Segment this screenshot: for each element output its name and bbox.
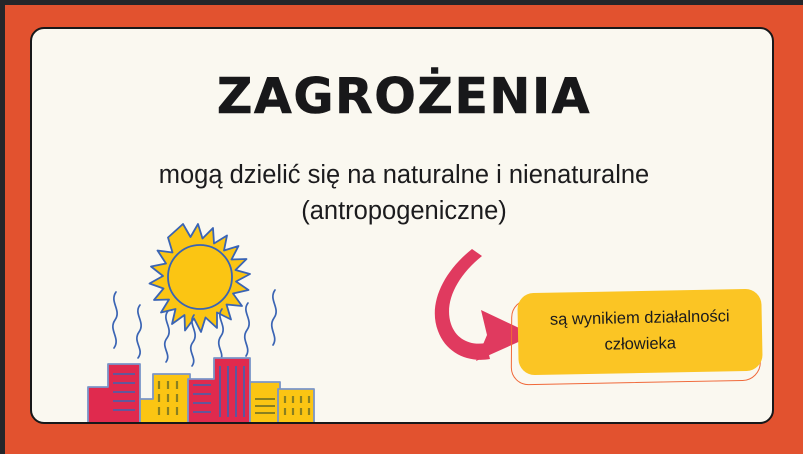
building-red-2 (188, 358, 250, 424)
callout-box[interactable]: są wynikiem działalności człowieka (517, 289, 763, 376)
building-yellow-3 (278, 389, 314, 424)
building-red-1 (88, 364, 140, 424)
slide-canvas: ZAGROŻENIA mogą dzielić się na naturalne… (0, 0, 803, 454)
building-yellow-2 (250, 382, 280, 424)
callout-text: są wynikiem działalności człowieka (518, 304, 763, 360)
slide-panel: ZAGROŻENIA mogą dzielić się na naturalne… (30, 27, 774, 424)
sun-over-city-illustration (80, 219, 320, 424)
callout-wrapper: są wynikiem działalności człowieka (508, 291, 768, 389)
city-buildings (80, 358, 320, 424)
building-yellow-1 (140, 374, 190, 424)
sun-icon (150, 224, 251, 332)
illustration-svg (80, 219, 320, 424)
page-title: ZAGROŻENIA (32, 72, 774, 121)
